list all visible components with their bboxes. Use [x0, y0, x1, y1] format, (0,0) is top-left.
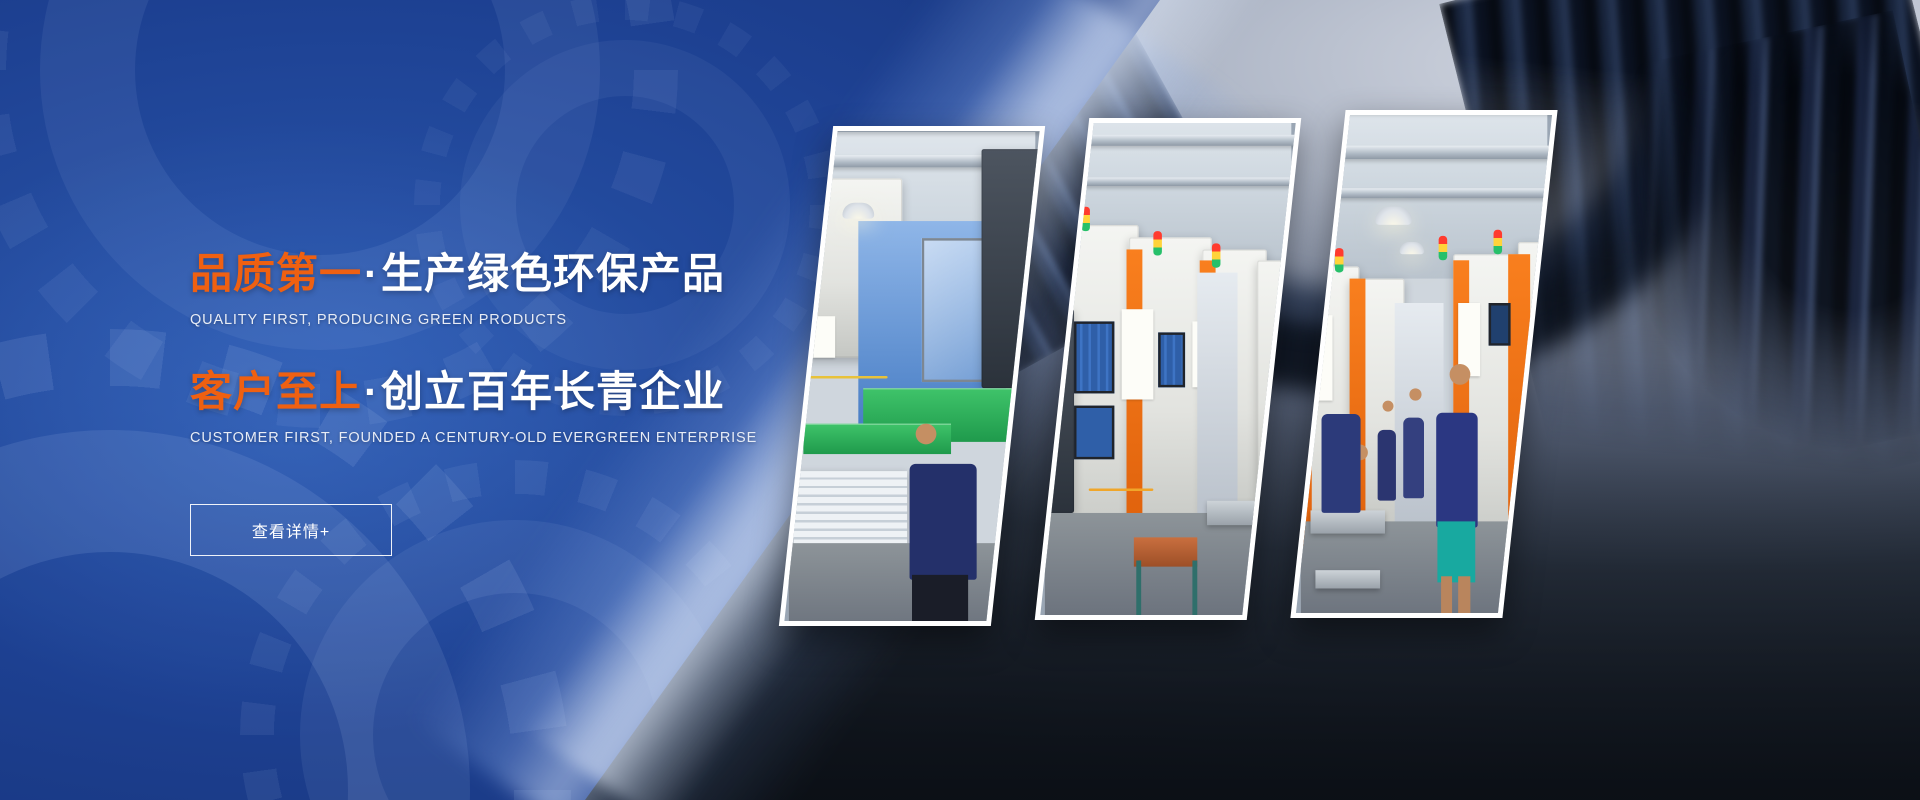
headline-secondary-accent: 客户至上	[190, 368, 362, 415]
headline-secondary-separator: ·	[362, 368, 381, 415]
view-details-button[interactable]: 查看详情+	[190, 504, 392, 556]
headline-secondary-rest: 创立百年长青企业	[381, 368, 725, 415]
cnc-machining-centers-photo	[1045, 123, 1291, 615]
gallery-panel-2[interactable]	[1035, 118, 1302, 620]
photo-gallery	[806, 120, 1906, 680]
headline-primary-rest: 生产绿色环保产品	[381, 250, 725, 297]
headline-primary: 品质第一·生产绿色环保产品	[190, 240, 725, 301]
gallery-panel-3[interactable]	[1290, 110, 1557, 618]
production-line-operators-photo	[1301, 115, 1547, 613]
worker-assembly-line-photo	[789, 131, 1035, 621]
subline-primary: QUALITY FIRST, PRODUCING GREEN PRODUCTS	[190, 312, 567, 328]
headline-primary-accent: 品质第一	[190, 250, 362, 297]
hero-copy: 品质第一·生产绿色环保产品 QUALITY FIRST, PRODUCING G…	[190, 0, 890, 800]
hero-banner: 品质第一·生产绿色环保产品 QUALITY FIRST, PRODUCING G…	[0, 0, 1920, 800]
headline-primary-separator: ·	[362, 250, 381, 297]
gallery-panel-1[interactable]	[779, 126, 1045, 626]
subline-secondary: CUSTOMER FIRST, FOUNDED A CENTURY-OLD EV…	[190, 430, 757, 446]
headline-secondary: 客户至上·创立百年长青企业	[190, 358, 725, 419]
